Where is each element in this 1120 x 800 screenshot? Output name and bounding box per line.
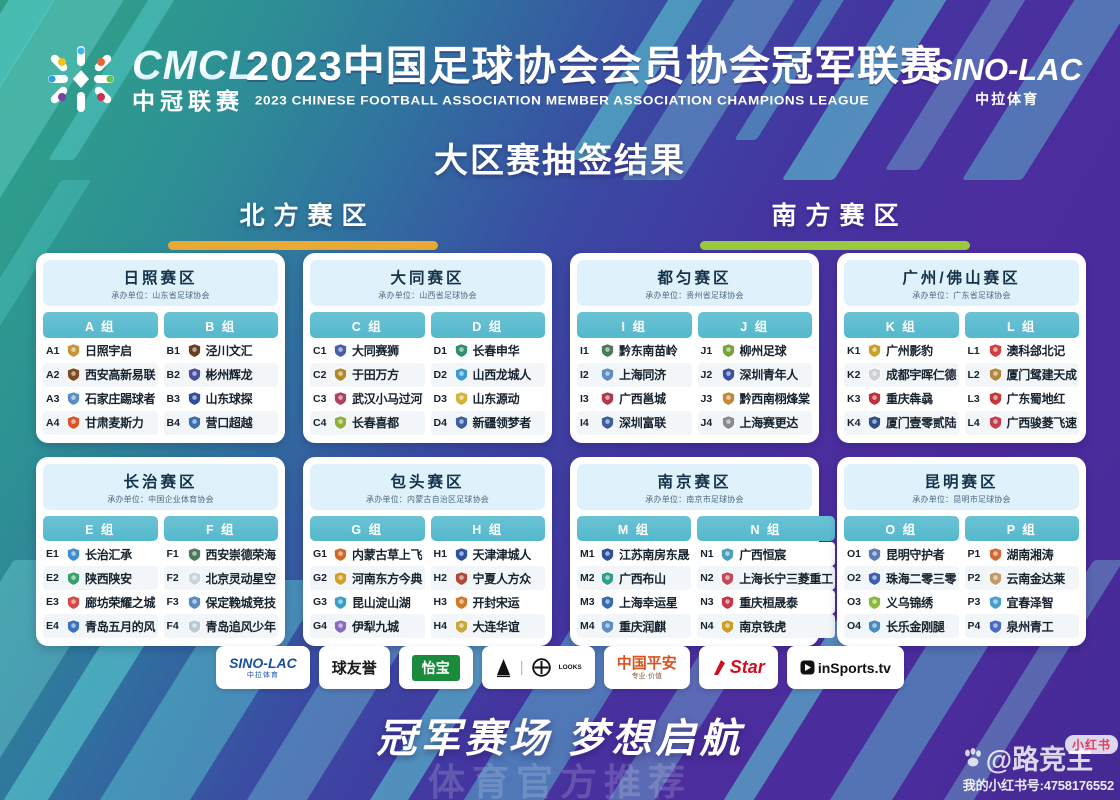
group-columns: A 组A1日照宇启A2西安高新易联A3石家庄踢球者A4甘肃麦斯力B 组B1泾川文…: [43, 312, 278, 435]
team-name: 重庆犇骉: [886, 390, 933, 407]
team-rows: F1西安崇德荣海F2北京灵动星空F3保定鞔城竞技F4青岛追风少年: [164, 542, 279, 638]
main-title-block: 2023中国足球协会会员协会冠军联赛 2023 CHINESE FOOTBALL…: [252, 44, 872, 108]
group-header: L 组: [965, 312, 1080, 338]
team-name: 大连华谊: [473, 618, 520, 635]
team-crest-icon: [988, 547, 1003, 562]
watermark-badge: 小红书: [1065, 735, 1118, 754]
group-header: B 组: [164, 312, 279, 338]
team-rows: J1柳州足球J2深圳青年人J3黔西南栩烽棠J4上海赛更达: [698, 339, 813, 435]
insports-mark-icon: [800, 660, 815, 675]
team-row[interactable]: M1江苏南房东晟: [577, 542, 691, 566]
team-code: N3: [700, 596, 716, 608]
team-crest-icon: [721, 415, 736, 430]
group-column: A 组A1日照宇启A2西安高新易联A3石家庄踢球者A4甘肃麦斯力: [43, 312, 158, 435]
team-code: D2: [434, 369, 450, 381]
team-name: 黔东南苗岭: [619, 342, 678, 359]
sponsor-name: 怡宝: [412, 655, 460, 681]
team-code: M4: [580, 620, 596, 632]
team-code: D4: [434, 417, 450, 429]
team-crest-icon: [721, 391, 736, 406]
team-row[interactable]: O2珠海二零三零: [844, 566, 959, 590]
cmcl-logo-cn: 中冠联赛: [132, 90, 254, 113]
team-row[interactable]: A3石家庄踢球者: [43, 387, 158, 411]
venue-host: 承办单位：贵州省足球协会: [581, 290, 808, 301]
team-name: 厦门壹零贰陆: [886, 414, 956, 431]
team-code: G4: [313, 620, 329, 632]
team-name: 山西龙城人: [473, 366, 532, 383]
group-column: K 组K1广州影豹K2成都宇晖仁德K3重庆犇骉K4厦门壹零贰陆: [844, 312, 959, 435]
team-row[interactable]: B1泾川文汇: [164, 339, 279, 363]
team-name: 泾川文汇: [206, 342, 253, 359]
venue-card-header: 昆明赛区承办单位：昆明市足球协会: [844, 464, 1079, 510]
team-crest-icon: [600, 571, 615, 586]
team-code: E3: [46, 596, 62, 608]
group-header: E 组: [43, 516, 158, 542]
team-rows: H1天津津城人H2宁夏人方众H3开封宋运H4大连华谊: [431, 542, 546, 638]
sponsor-name: LOOKS: [559, 664, 582, 671]
venue-card-header: 广州/佛山赛区承办单位：广东省足球协会: [844, 260, 1079, 306]
team-code: O3: [847, 596, 863, 608]
group-header: P 组: [965, 516, 1080, 542]
venue-card: 长治赛区承办单位：中国企业体育协会E 组E1长治汇承E2陕西陕安E3廊坊荣耀之城…: [36, 457, 285, 647]
sponsor-name: Star: [730, 657, 765, 678]
venue-host: 承办单位：山东省足球协会: [47, 290, 274, 301]
team-code: F2: [167, 572, 183, 584]
group-columns: G 组G1内蒙古草上飞G2河南东方今典G3昆山淀山湖G4伊犁九城H 组H1天津津…: [310, 516, 545, 639]
team-row[interactable]: F4青岛追风少年: [164, 614, 279, 638]
team-crest-icon: [600, 547, 615, 562]
team-row[interactable]: B3山东球探: [164, 387, 279, 411]
sponsor-logo[interactable]: SINO-LAC中拉体育: [216, 646, 310, 689]
group-columns: I 组I1黔东南苗岭I2上海同济I3广西邕城I4深圳富联J 组J1柳州足球J2深…: [577, 312, 812, 435]
team-row[interactable]: G3昆山淀山湖: [310, 590, 425, 614]
team-row[interactable]: L1澳科郐北记: [965, 339, 1080, 363]
team-name: 宜春泽智: [1007, 594, 1054, 611]
cmcl-snowflake-icon: [42, 40, 120, 118]
team-name: 营口超越: [206, 414, 253, 431]
team-code: C4: [313, 417, 329, 429]
venue-host: 承办单位：内蒙古自治区足球协会: [314, 494, 541, 505]
team-name: 日照宇启: [85, 342, 132, 359]
team-crest-icon: [600, 619, 615, 634]
venue-host: 承办单位：中国企业体育协会: [47, 494, 274, 505]
team-code: A1: [46, 345, 62, 357]
team-name: 彬州辉龙: [206, 366, 253, 383]
sponsor-name: inSports.tv: [818, 660, 891, 676]
team-rows: G1内蒙古草上飞G2河南东方今典G3昆山淀山湖G4伊犁九城: [310, 542, 425, 638]
team-name: 泉州青工: [1007, 618, 1054, 635]
group-column: C 组C1大同赛狮C2于田万方C3武汉小马过河C4长春喜都: [310, 312, 425, 435]
main-title-en: 2023 CHINESE FOOTBALL ASSOCIATION MEMBER…: [252, 94, 872, 108]
venue-grid: 日照赛区承办单位：山东省足球协会A 组A1日照宇启A2西安高新易联A3石家庄踢球…: [36, 253, 1086, 646]
group-column: N 组N1广西恒宸N2上海长宁三菱重工N3重庆桓晟泰N4南京铁虎: [697, 516, 835, 639]
team-row[interactable]: M4重庆润麒: [577, 614, 691, 638]
team-row[interactable]: P2云南金达莱: [965, 566, 1080, 590]
team-row[interactable]: N2上海长宁三菱重工: [697, 566, 835, 590]
group-column: G 组G1内蒙古草上飞G2河南东方今典G3昆山淀山湖G4伊犁九城: [310, 516, 425, 639]
team-name: 柳州足球: [740, 342, 787, 359]
team-name: 上海同济: [619, 366, 666, 383]
team-code: F4: [167, 620, 183, 632]
team-code: B4: [167, 417, 183, 429]
team-code: A2: [46, 369, 62, 381]
team-code: F1: [167, 548, 183, 560]
team-crest-icon: [988, 595, 1003, 610]
team-crest-icon: [187, 619, 202, 634]
team-row[interactable]: I2上海同济: [577, 363, 692, 387]
team-rows: A1日照宇启A2西安高新易联A3石家庄踢球者A4甘肃麦斯力: [43, 339, 158, 435]
team-crest-icon: [720, 571, 735, 586]
team-row[interactable]: H1天津津城人: [431, 542, 546, 566]
team-code: A4: [46, 417, 62, 429]
team-name: 广西布山: [619, 570, 666, 587]
group-header: J 组: [698, 312, 813, 338]
team-name: 重庆桓晟泰: [739, 594, 798, 611]
team-crest-icon: [187, 391, 202, 406]
venue-host: 承办单位：南京市足球协会: [581, 494, 808, 505]
sponsor-logo[interactable]: 球友誉: [319, 646, 390, 689]
team-row[interactable]: L2厦门鸳建天成: [965, 363, 1080, 387]
team-row[interactable]: F2北京灵动星空: [164, 566, 279, 590]
team-name: 武汉小马过河: [352, 390, 422, 407]
team-code: G2: [313, 572, 329, 584]
team-row[interactable]: C1大同赛狮: [310, 339, 425, 363]
team-row[interactable]: E1长治汇承: [43, 542, 158, 566]
group-header: A 组: [43, 312, 158, 338]
team-crest-icon: [988, 391, 1003, 406]
team-rows: C1大同赛狮C2于田万方C3武汉小马过河C4长春喜都: [310, 339, 425, 435]
team-name: 长治汇承: [85, 546, 132, 563]
group-header: F 组: [164, 516, 279, 542]
team-code: J2: [701, 369, 717, 381]
team-rows: E1长治汇承E2陕西陕安E3廊坊荣耀之城E4青岛五月的风: [43, 542, 158, 638]
group-column: I 组I1黔东南苗岭I2上海同济I3广西邕城I4深圳富联: [577, 312, 692, 435]
venue-name: 都匀赛区: [581, 266, 808, 288]
team-row[interactable]: C4长春喜都: [310, 411, 425, 435]
team-crest-icon: [333, 343, 348, 358]
team-row[interactable]: K4厦门壹零贰陆: [844, 411, 959, 435]
team-crest-icon: [66, 547, 81, 562]
team-row[interactable]: N1广西恒宸: [697, 542, 835, 566]
team-rows: I1黔东南苗岭I2上海同济I3广西邕城I4深圳富联: [577, 339, 692, 435]
cmcl-logo: CMCL 中冠联赛: [42, 40, 254, 118]
team-row[interactable]: J4上海赛更达: [698, 411, 813, 435]
team-code: H3: [434, 596, 450, 608]
venue-card: 大同赛区承办单位：山西省足球协会C 组C1大同赛狮C2于田万方C3武汉小马过河C…: [303, 253, 552, 443]
group-column: L 组L1澳科郐北记L2厦门鸳建天成L3广东蜀地红L4广西骏菱飞速: [965, 312, 1080, 435]
group-header: N 组: [697, 516, 835, 542]
team-row[interactable]: H3开封宋运: [431, 590, 546, 614]
team-row[interactable]: A1日照宇启: [43, 339, 158, 363]
team-row[interactable]: G2河南东方今典: [310, 566, 425, 590]
team-crest-icon: [600, 595, 615, 610]
team-rows: D1长春申华D2山西龙城人D3山东源动D4新疆领梦者: [431, 339, 546, 435]
team-code: C3: [313, 393, 329, 405]
team-name: 南京铁虎: [739, 618, 786, 635]
team-row[interactable]: L3广东蜀地红: [965, 387, 1080, 411]
team-code: D1: [434, 345, 450, 357]
venue-host: 承办单位：山西省足球协会: [314, 290, 541, 301]
team-name: 广州影豹: [886, 342, 933, 359]
team-name: 江苏南房东晟: [619, 546, 689, 563]
team-crest-icon: [720, 619, 735, 634]
team-name: 西安高新易联: [85, 366, 155, 383]
team-name: 长春喜都: [352, 414, 399, 431]
team-code: E1: [46, 548, 62, 560]
team-code: G3: [313, 596, 329, 608]
venue-card-header: 包头赛区承办单位：内蒙古自治区足球协会: [310, 464, 545, 510]
team-code: C1: [313, 345, 329, 357]
team-crest-icon: [333, 571, 348, 586]
region-south-bar: [700, 241, 970, 250]
team-row[interactable]: P1湖南湘涛: [965, 542, 1080, 566]
team-crest-icon: [187, 595, 202, 610]
team-name: 云南金达莱: [1007, 570, 1066, 587]
team-code: L3: [968, 393, 984, 405]
team-crest-icon: [187, 367, 202, 382]
team-row[interactable]: D2山西龙城人: [431, 363, 546, 387]
team-row[interactable]: A4甘肃麦斯力: [43, 411, 158, 435]
team-row[interactable]: O3义乌锦绣: [844, 590, 959, 614]
team-rows: L1澳科郐北记L2厦门鸳建天成L3广东蜀地红L4广西骏菱飞速: [965, 339, 1080, 435]
team-code: H1: [434, 548, 450, 560]
group-header: G 组: [310, 516, 425, 542]
team-row[interactable]: L4广西骏菱飞速: [965, 411, 1080, 435]
team-code: P4: [968, 620, 984, 632]
team-name: 山东源动: [473, 390, 520, 407]
team-row[interactable]: C3武汉小马过河: [310, 387, 425, 411]
group-header: C 组: [310, 312, 425, 338]
team-name: 广东蜀地红: [1007, 390, 1066, 407]
team-code: L4: [968, 417, 984, 429]
venue-name: 大同赛区: [314, 266, 541, 288]
team-row[interactable]: N3重庆桓晟泰: [697, 590, 835, 614]
team-row[interactable]: P3宜春泽智: [965, 590, 1080, 614]
sponsor-tagline: 中拉体育: [247, 672, 279, 679]
team-crest-icon: [454, 595, 469, 610]
team-code: L2: [968, 369, 984, 381]
team-code: B1: [167, 345, 183, 357]
team-code: I4: [580, 417, 596, 429]
team-crest-icon: [66, 343, 81, 358]
sponsor-logo[interactable]: |LOOKS: [482, 646, 595, 689]
venue-card: 包头赛区承办单位：内蒙古自治区足球协会G 组G1内蒙古草上飞G2河南东方今典G3…: [303, 457, 552, 647]
group-column: E 组E1长治汇承E2陕西陕安E3廊坊荣耀之城E4青岛五月的风: [43, 516, 158, 639]
team-crest-icon: [66, 619, 81, 634]
team-crest-icon: [988, 415, 1003, 430]
team-name: 新疆领梦者: [473, 414, 532, 431]
team-crest-icon: [454, 571, 469, 586]
team-code: M2: [580, 572, 596, 584]
team-name: 保定鞔城竞技: [206, 594, 276, 611]
team-code: J1: [701, 345, 717, 357]
team-name: 广西恒宸: [739, 546, 786, 563]
region-north-bar: [168, 241, 438, 250]
group-columns: K 组K1广州影豹K2成都宇晖仁德K3重庆犇骉K4厦门壹零贰陆L 组L1澳科郐北…: [844, 312, 1079, 435]
team-code: N2: [700, 572, 716, 584]
team-row[interactable]: E4青岛五月的风: [43, 614, 158, 638]
team-row[interactable]: F3保定鞔城竞技: [164, 590, 279, 614]
team-name: 上海长宁三菱重工: [739, 570, 833, 587]
team-code: F3: [167, 596, 183, 608]
team-row[interactable]: P4泉州青工: [965, 614, 1080, 638]
team-rows: B1泾川文汇B2彬州辉龙B3山东球探B4营口超越: [164, 339, 279, 435]
team-row[interactable]: O1昆明守护者: [844, 542, 959, 566]
team-row[interactable]: M3上海幸运星: [577, 590, 691, 614]
looks-mark-icon: [495, 658, 512, 678]
venue-card: 南京赛区承办单位：南京市足球协会M 组M1江苏南房东晟M2广西布山M3上海幸运星…: [570, 457, 819, 647]
team-code: P2: [968, 572, 984, 584]
star-mark-icon: [712, 659, 727, 676]
team-row[interactable]: E2陕西陕安: [43, 566, 158, 590]
team-row[interactable]: K1广州影豹: [844, 339, 959, 363]
team-code: B2: [167, 369, 183, 381]
team-crest-icon: [867, 343, 882, 358]
venue-host: 承办单位：广东省足球协会: [848, 290, 1075, 301]
team-crest-icon: [988, 367, 1003, 382]
team-row[interactable]: A2西安高新易联: [43, 363, 158, 387]
team-crest-icon: [333, 619, 348, 634]
team-name: 长春申华: [473, 342, 520, 359]
team-row[interactable]: N4南京铁虎: [697, 614, 835, 638]
team-code: K1: [847, 345, 863, 357]
team-name: 大同赛狮: [352, 342, 399, 359]
team-row[interactable]: O4长乐金刚腿: [844, 614, 959, 638]
team-name: 义乌锦绣: [886, 594, 933, 611]
team-name: 西安崇德荣海: [206, 546, 276, 563]
team-crest-icon: [187, 547, 202, 562]
venue-card-header: 大同赛区承办单位：山西省足球协会: [310, 260, 545, 306]
team-row[interactable]: J1柳州足球: [698, 339, 813, 363]
team-code: B3: [167, 393, 183, 405]
team-code: I2: [580, 369, 596, 381]
team-crest-icon: [333, 391, 348, 406]
team-code: P1: [968, 548, 984, 560]
footer-slogan: 冠军赛场 梦想启航: [0, 706, 1120, 764]
team-name: 上海幸运星: [619, 594, 678, 611]
group-header: M 组: [577, 516, 691, 542]
venue-card: 昆明赛区承办单位：昆明市足球协会O 组O1昆明守护者O2珠海二零三零O3义乌锦绣…: [837, 457, 1086, 647]
main-title-cn: 2023中国足球协会会员协会冠军联赛: [246, 44, 878, 88]
team-crest-icon: [187, 415, 202, 430]
team-code: I1: [580, 345, 596, 357]
team-crest-icon: [867, 619, 882, 634]
venue-name: 南京赛区: [581, 470, 808, 492]
sinolac-logo: SINO-LAC 中拉体育: [932, 52, 1082, 109]
team-row[interactable]: G1内蒙古草上飞: [310, 542, 425, 566]
team-row[interactable]: I4深圳富联: [577, 411, 692, 435]
team-code: K4: [847, 417, 863, 429]
sponsor-logo[interactable]: 怡宝: [399, 646, 473, 689]
team-row[interactable]: K3重庆犇骉: [844, 387, 959, 411]
team-code: J3: [701, 393, 717, 405]
team-name: 青岛五月的风: [85, 618, 155, 635]
team-name: 昆明守护者: [886, 546, 945, 563]
team-crest-icon: [66, 367, 81, 382]
group-columns: C 组C1大同赛狮C2于田万方C3武汉小马过河C4长春喜都D 组D1长春申华D2…: [310, 312, 545, 435]
team-row[interactable]: D1长春申华: [431, 339, 546, 363]
team-name: 黔西南栩烽棠: [740, 390, 810, 407]
team-name: 甘肃麦斯力: [85, 414, 144, 431]
group-columns: E 组E1长治汇承E2陕西陕安E3廊坊荣耀之城E4青岛五月的风F 组F1西安崇德…: [43, 516, 278, 639]
team-row[interactable]: G4伊犁九城: [310, 614, 425, 638]
team-row[interactable]: I3广西邕城: [577, 387, 692, 411]
team-code: G1: [313, 548, 329, 560]
team-name: 重庆润麒: [619, 618, 666, 635]
team-code: J4: [701, 417, 717, 429]
team-crest-icon: [988, 343, 1003, 358]
team-name: 山东球探: [206, 390, 253, 407]
team-crest-icon: [720, 547, 735, 562]
cmcl-logo-en: CMCL: [132, 45, 254, 86]
team-row[interactable]: B4营口超越: [164, 411, 279, 435]
venue-name: 长治赛区: [47, 470, 274, 492]
team-row[interactable]: H2宁夏人方众: [431, 566, 546, 590]
team-code: O1: [847, 548, 863, 560]
team-code: O4: [847, 620, 863, 632]
team-row[interactable]: J2深圳青年人: [698, 363, 813, 387]
team-crest-icon: [721, 343, 736, 358]
team-crest-icon: [454, 367, 469, 382]
venue-name: 昆明赛区: [848, 470, 1075, 492]
team-row[interactable]: D3山东源动: [431, 387, 546, 411]
poster-root: CMCL 中冠联赛 2023中国足球协会会员协会冠军联赛 2023 CHINES…: [0, 0, 1120, 800]
sponsor-logo[interactable]: inSports.tv: [787, 646, 904, 689]
group-column: O 组O1昆明守护者O2珠海二零三零O3义乌锦绣O4长乐金刚腿: [844, 516, 959, 639]
team-row[interactable]: H4大连华谊: [431, 614, 546, 638]
team-name: 石家庄踢球者: [85, 390, 155, 407]
team-name: 广西骏菱飞速: [1007, 414, 1077, 431]
team-row[interactable]: C2于田万方: [310, 363, 425, 387]
page-subtitle: 大区赛抽签结果: [0, 133, 1120, 182]
poster-header: CMCL 中冠联赛 2023中国足球协会会员协会冠军联赛 2023 CHINES…: [0, 0, 1120, 132]
team-code: M1: [580, 548, 596, 560]
group-column: P 组P1湖南湘涛P2云南金达莱P3宜春泽智P4泉州青工: [965, 516, 1080, 639]
team-row[interactable]: K2成都宇晖仁德: [844, 363, 959, 387]
team-row[interactable]: B2彬州辉龙: [164, 363, 279, 387]
sponsor-logo[interactable]: 中国平安专业·价值: [604, 646, 690, 689]
team-row[interactable]: E3廊坊荣耀之城: [43, 590, 158, 614]
team-code: K2: [847, 369, 863, 381]
team-row[interactable]: M2广西布山: [577, 566, 691, 590]
venue-host: 承办单位：昆明市足球协会: [848, 494, 1075, 505]
region-south-label: 南方赛区: [700, 196, 970, 232]
team-code: M3: [580, 596, 596, 608]
group-column: M 组M1江苏南房东晟M2广西布山M3上海幸运星M4重庆润麒: [577, 516, 691, 639]
team-row[interactable]: I1黔东南苗岭: [577, 339, 692, 363]
team-row[interactable]: J3黔西南栩烽棠: [698, 387, 813, 411]
team-name: 珠海二零三零: [886, 570, 956, 587]
team-name: 河南东方今典: [352, 570, 422, 587]
team-rows: K1广州影豹K2成都宇晖仁德K3重庆犇骉K4厦门壹零贰陆: [844, 339, 959, 435]
team-code: O2: [847, 572, 863, 584]
team-crest-icon: [867, 415, 882, 430]
team-name: 广西邕城: [619, 390, 666, 407]
group-column: H 组H1天津津城人H2宁夏人方众H3开封宋运H4大连华谊: [431, 516, 546, 639]
group-header: K 组: [844, 312, 959, 338]
baidu-paw-icon: [963, 748, 983, 768]
team-crest-icon: [66, 571, 81, 586]
sponsor-logo[interactable]: Star: [699, 646, 778, 689]
team-name: 深圳青年人: [740, 366, 799, 383]
team-row[interactable]: D4新疆领梦者: [431, 411, 546, 435]
group-header: O 组: [844, 516, 959, 542]
team-row[interactable]: F1西安崇德荣海: [164, 542, 279, 566]
team-name: 湖南湘涛: [1007, 546, 1054, 563]
team-crest-icon: [988, 571, 1003, 586]
team-name: 宁夏人方众: [473, 570, 532, 587]
team-code: E4: [46, 620, 62, 632]
